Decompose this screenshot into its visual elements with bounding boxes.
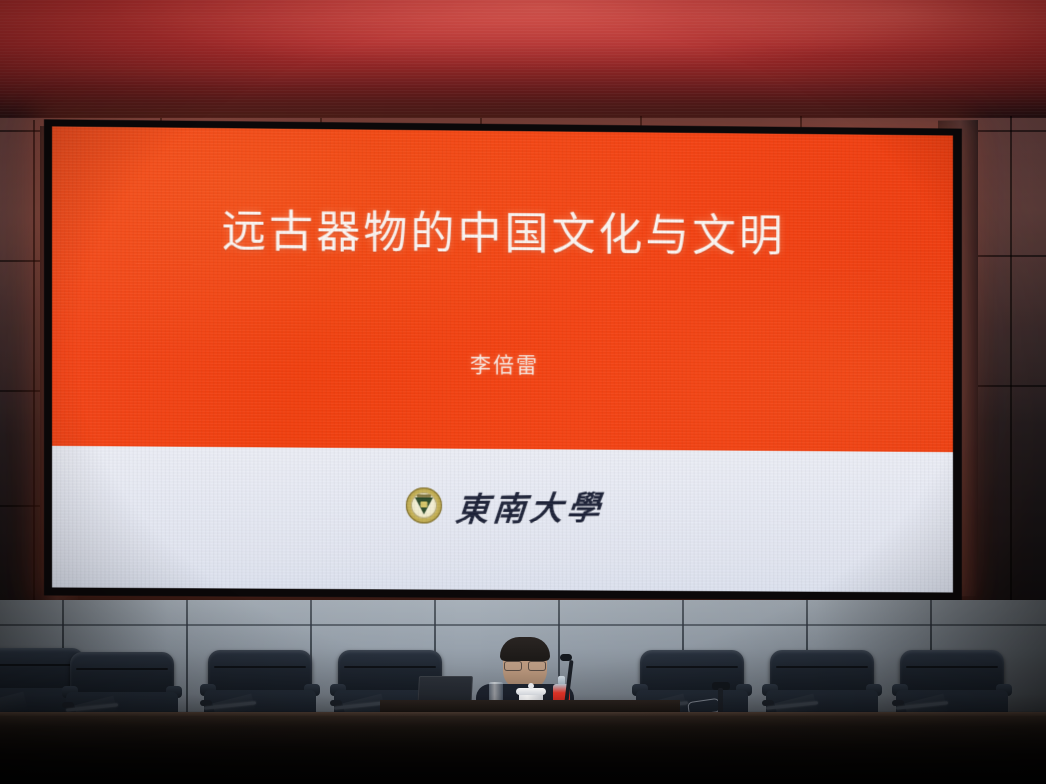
slide-red-panel — [52, 126, 953, 451]
university-emblem-icon — [405, 487, 441, 523]
chair-backrest — [900, 650, 1004, 694]
ceiling-texture — [0, 0, 1046, 132]
speaker-hair — [500, 637, 550, 661]
tea-cup-knob — [528, 683, 534, 689]
tea-cup-lid — [516, 688, 546, 695]
chair-backrest — [770, 650, 874, 694]
emblem-shield-mark — [420, 502, 427, 508]
lecture-hall-photo: 远古器物的中国文化与文明 李倍雷 東南大學 — [0, 0, 1046, 784]
podium-desk — [0, 716, 1046, 784]
university-name-calligraphy: 東南大學 — [453, 481, 605, 531]
led-screen: 远古器物的中国文化与文明 李倍雷 東南大學 — [44, 119, 962, 600]
screen-surface: 远古器物的中国文化与文明 李倍雷 東南大學 — [52, 126, 953, 592]
eyeglasses-icon — [504, 661, 546, 669]
slide-title: 远古器物的中国文化与文明 — [52, 193, 953, 265]
chair-backrest — [208, 650, 312, 694]
university-logo-row: 東南大學 — [52, 479, 953, 533]
chair-backrest — [70, 652, 174, 696]
